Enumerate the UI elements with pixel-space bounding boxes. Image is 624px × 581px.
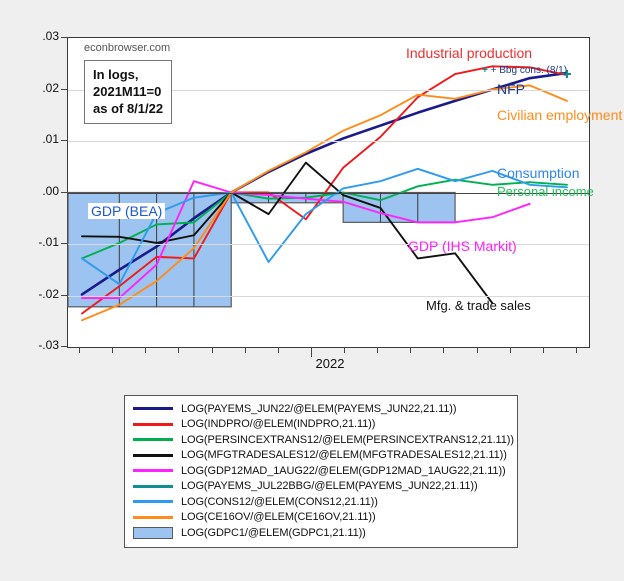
legend-row: LOG(PERSINCEXTRANS12/@ELEM(PERSINCEXTRAN… <box>131 432 511 448</box>
y-axis-tick-label: -.01 <box>25 235 59 249</box>
gridline <box>68 141 589 142</box>
plot-container: .03.02.01.00-.01-.02-.03 2022 econbrowse… <box>0 0 624 390</box>
legend-label: LOG(GDP12MAD_1AUG22/@ELEM(GDP12MAD_1AUG2… <box>175 465 506 477</box>
note-line-1: In logs, <box>93 66 163 83</box>
legend-row: LOG(GDP12MAD_1AUG22/@ELEM(GDP12MAD_1AUG2… <box>131 463 511 479</box>
y-axis-tick-mark <box>61 346 67 347</box>
annotation-mfg-trade-sales-label: Mfg. & trade sales <box>426 298 531 313</box>
x-axis-tick-mark <box>510 347 511 353</box>
legend-key <box>131 500 175 503</box>
y-axis-tick-mark <box>61 295 67 296</box>
note-line-3: as of 8/1/22 <box>93 100 163 117</box>
annotation-mfg-trade-sales: Mfg. & trade sales <box>426 297 531 315</box>
legend-line-icon <box>133 438 173 441</box>
annotation-gdp-bea: GDP (BEA) <box>88 203 165 219</box>
annotation-consumption: Consumption <box>497 165 580 181</box>
annotation-bbg-consensus: + + Bbg cons. (8/1) <box>482 65 567 76</box>
chart-figure: .03.02.01.00-.01-.02-.03 2022 econbrowse… <box>0 0 624 581</box>
x-axis-tick-mark <box>377 347 378 353</box>
legend-row: LOG(INDPRO/@ELEM(INDPRO,21.11)) <box>131 417 511 433</box>
note-line-2: 2021M11=0 <box>93 83 163 100</box>
y-axis-tick-label: .03 <box>25 29 59 43</box>
x-axis-tick-mark <box>79 347 80 353</box>
y-axis-tick-mark <box>61 192 67 193</box>
annotation-civilian-employment: Civilian employment <box>497 106 593 125</box>
x-axis-tick-mark <box>278 347 279 353</box>
legend-label: LOG(CE16OV/@ELEM(CE16OV,21.11)) <box>175 511 376 523</box>
x-axis-tick-mark <box>112 347 113 353</box>
legend-line-icon <box>133 454 173 457</box>
x-axis-tick-mark <box>178 347 179 353</box>
y-axis-tick-label: .00 <box>25 184 59 198</box>
legend-key <box>131 485 175 488</box>
legend-line-icon <box>133 516 173 519</box>
legend-row: LOG(PAYEMS_JUL22BBG/@ELEM(PAYEMS_JUN22,2… <box>131 479 511 495</box>
x-axis-tick-mark <box>576 347 577 353</box>
legend-label: LOG(CONS12/@ELEM(CONS12,21.11)) <box>175 496 378 508</box>
legend-label: LOG(INDPRO/@ELEM(INDPRO,21.11)) <box>175 418 375 430</box>
legend-line-icon <box>133 469 173 472</box>
legend-key <box>131 516 175 519</box>
legend-row: LOG(PAYEMS_JUN22/@ELEM(PAYEMS_JUN22,21.1… <box>131 401 511 417</box>
x-axis-tick-mark <box>410 347 411 353</box>
legend-line-icon <box>133 423 173 426</box>
legend-row: LOG(CONS12/@ELEM(CONS12,21.11)) <box>131 494 511 510</box>
legend-key <box>131 423 175 426</box>
legend-key <box>131 438 175 441</box>
x-axis-tick-mark <box>477 347 478 353</box>
annotation-gdp-ihs-markit: GDP (IHS Markit) <box>408 238 517 254</box>
x-axis-tick-mark <box>145 347 146 353</box>
y-axis-tick-mark <box>61 140 67 141</box>
watermark-text: econbrowser.com <box>84 42 170 54</box>
legend-label: LOG(PAYEMS_JUL22BBG/@ELEM(PAYEMS_JUN22,2… <box>175 480 478 492</box>
chart-legend: LOG(PAYEMS_JUN22/@ELEM(PAYEMS_JUN22,21.1… <box>124 395 518 548</box>
legend-key <box>131 407 175 410</box>
legend-line-icon <box>133 500 173 503</box>
legend-key <box>131 469 175 472</box>
legend-line-icon <box>133 485 173 488</box>
legend-label: LOG(GDPC1/@ELEM(GDPC1,21.11)) <box>175 527 366 539</box>
x-axis-label: 2022 <box>316 356 345 371</box>
legend-key <box>131 454 175 457</box>
y-axis-tick-label: -.02 <box>25 287 59 301</box>
x-axis-tick-mark <box>443 347 444 353</box>
legend-label: LOG(PERSINCEXTRANS12/@ELEM(PERSINCEXTRAN… <box>175 434 514 446</box>
legend-label: LOG(PAYEMS_JUN22/@ELEM(PAYEMS_JUN22,21.1… <box>175 403 456 415</box>
legend-swatch-icon <box>133 527 173 539</box>
x-axis-tick-mark <box>245 347 246 353</box>
x-axis-tick-mark <box>543 347 544 353</box>
annotation-industrial-production: Industrial production <box>406 45 532 61</box>
y-axis-tick-mark <box>61 89 67 90</box>
annotation-bbg-consensus-label: + Bbg cons. (8/1) <box>491 65 567 76</box>
legend-label: LOG(MFGTRADESALES12/@ELEM(MFGTRADESALES1… <box>175 449 507 461</box>
legend-key <box>131 527 175 539</box>
annotation-personal-income: Personal income <box>497 184 594 199</box>
legend-row: LOG(CE16OV/@ELEM(CE16OV,21.11)) <box>131 510 511 526</box>
note-box: In logs, 2021M11=0 as of 8/1/22 <box>84 60 172 124</box>
x-axis-tick-mark <box>311 347 312 357</box>
y-axis-tick-label: -.03 <box>25 338 59 352</box>
x-axis-tick-mark <box>212 347 213 353</box>
y-axis-tick-mark <box>61 37 67 38</box>
x-axis-tick-mark <box>344 347 345 353</box>
plus-marker-icon: + <box>482 65 488 76</box>
y-axis-tick-mark <box>61 243 67 244</box>
y-axis-tick-label: .01 <box>25 132 59 146</box>
legend-row: LOG(MFGTRADESALES12/@ELEM(MFGTRADESALES1… <box>131 448 511 464</box>
y-axis-tick-label: .02 <box>25 81 59 95</box>
annotation-nfp: NFP <box>497 81 525 97</box>
legend-line-icon <box>133 407 173 410</box>
legend-row: LOG(GDPC1/@ELEM(GDPC1,21.11)) <box>131 525 511 541</box>
